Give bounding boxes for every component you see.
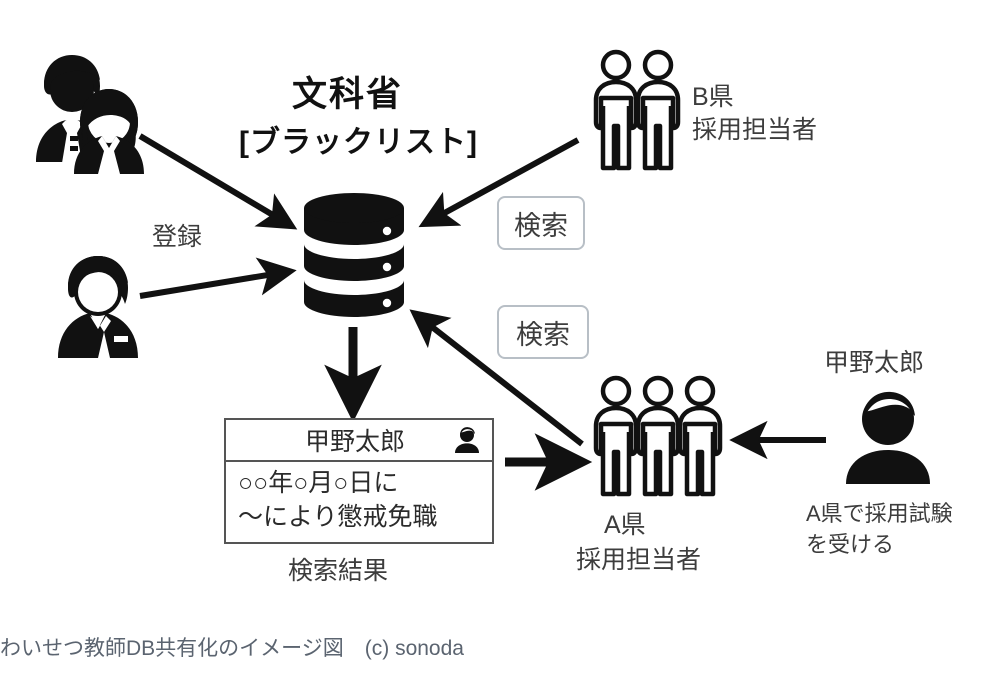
diagram-canvas: 文科省 [ブラックリスト] 登録 B県 採用担当者 A県 採用担当者 甲野太郎 …: [0, 0, 998, 625]
database-icon: [302, 192, 406, 324]
search-button-bottom[interactable]: 検索: [497, 305, 589, 359]
search-button-top[interactable]: 検索: [497, 196, 585, 250]
avatar-small-icon: [454, 427, 480, 453]
result-card-body: ○○年○月○日に ～により懲戒免職: [226, 462, 492, 542]
arrow-register-bottom: [140, 272, 286, 296]
page-title: 文科省: [292, 73, 403, 117]
three-persons-outline-icon: [590, 374, 728, 500]
applicant-name: 甲野太郎: [824, 348, 924, 379]
blacklist-subtitle: [ブラックリスト]: [239, 124, 478, 162]
image-caption: わいせつ教師DB共有化のイメージ図 (c) sonoda: [0, 632, 998, 662]
result-card-line1: ○○年○月○日に: [238, 466, 482, 500]
prefecture-b-line2: 採用担当者: [692, 115, 817, 146]
prefecture-a-line2: 採用担当者: [576, 545, 701, 576]
person-filled-icon: [842, 390, 934, 484]
single-office-worker-icon: [48, 248, 152, 358]
register-label: 登録: [152, 222, 202, 253]
result-card-header: 甲野太郎: [226, 420, 492, 462]
search-result-card: 甲野太郎 ○○年○月○日に ～により懲戒免職: [224, 418, 494, 544]
applicant-action-line2: を受ける: [806, 531, 894, 559]
result-card-line2: ～により懲戒免職: [238, 500, 482, 534]
result-card-name: 甲野太郎: [238, 422, 454, 458]
two-persons-outline-icon: [588, 48, 688, 173]
prefecture-b-line1: B県: [692, 82, 734, 113]
two-office-workers-icon: [14, 44, 154, 174]
search-result-label: 検索結果: [288, 556, 388, 587]
applicant-action-line1: A県で採用試験: [806, 500, 953, 528]
prefecture-a-line1: A県: [604, 510, 646, 541]
